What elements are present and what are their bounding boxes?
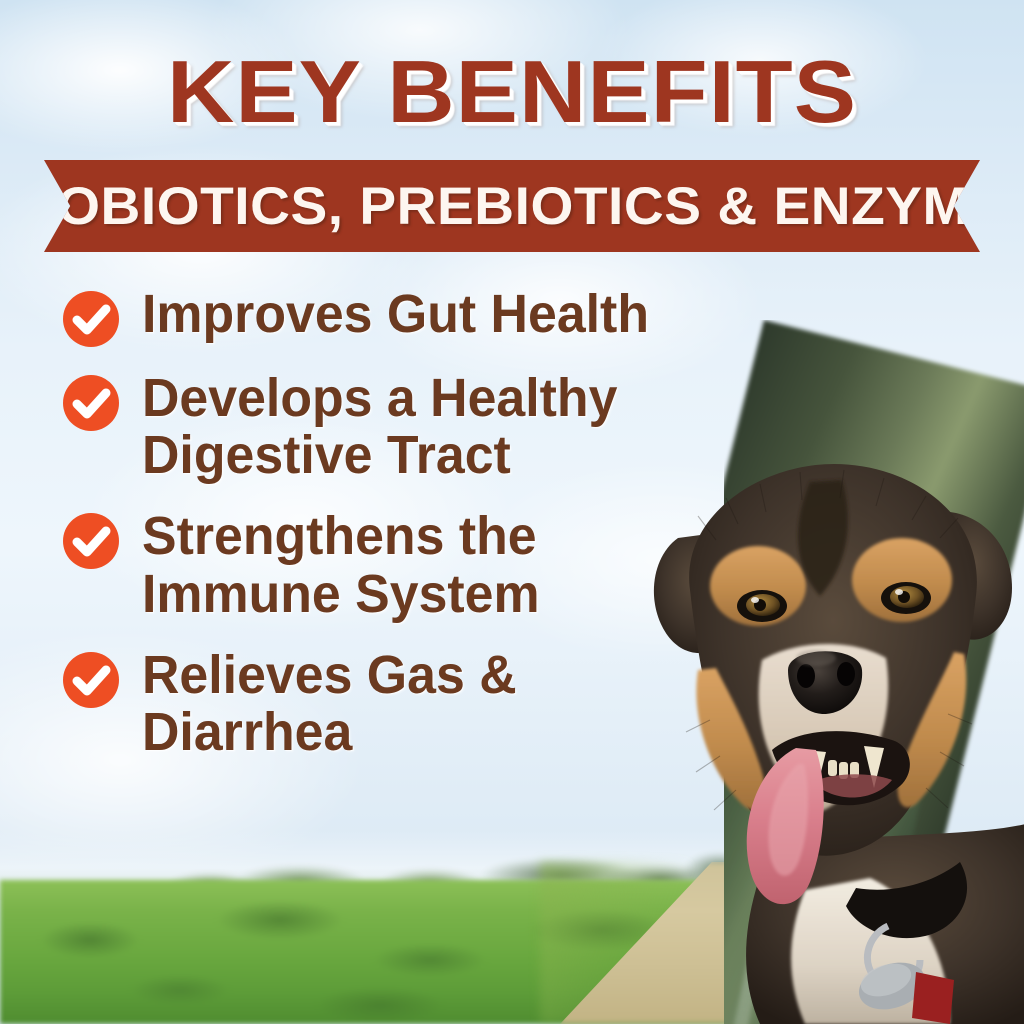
banner-text: PROBIOTICS, PREBIOTICS & ENZYMES <box>0 176 1024 237</box>
dog-nostril-right <box>837 662 855 686</box>
benefit-label-4: Relieves Gas & Diarrhea <box>142 647 517 761</box>
check-circle-icon <box>62 512 120 570</box>
check-circle-icon <box>62 651 120 709</box>
benefit-item-1: Improves Gut Health <box>62 286 762 348</box>
benefit-item-2: Develops a Healthy Digestive Tract <box>62 370 762 484</box>
dog-right-eye <box>881 582 931 614</box>
dog-red-tag <box>912 972 954 1024</box>
benefit-label-2: Develops a Healthy Digestive Tract <box>142 370 617 484</box>
subtitle-ribbon-banner: PROBIOTICS, PREBIOTICS & ENZYMES <box>44 160 980 252</box>
benefit-label-1: Improves Gut Health <box>142 286 649 343</box>
benefit-item-3: Strengthens the Immune System <box>62 508 762 622</box>
infographic-canvas: KEY BENEFITS PROBIOTICS, PREBIOTICS & EN… <box>0 0 1024 1024</box>
benefit-label-3: Strengthens the Immune System <box>142 508 540 622</box>
check-circle-icon <box>62 374 120 432</box>
check-circle-icon <box>62 290 120 348</box>
dog-nose-highlight <box>796 650 836 666</box>
benefits-list: Improves Gut Health Develops a Healthy D… <box>62 286 762 775</box>
benefit-item-4: Relieves Gas & Diarrhea <box>62 647 762 761</box>
dog-nostril-left <box>797 664 815 688</box>
page-title: KEY BENEFITS <box>0 48 1024 136</box>
